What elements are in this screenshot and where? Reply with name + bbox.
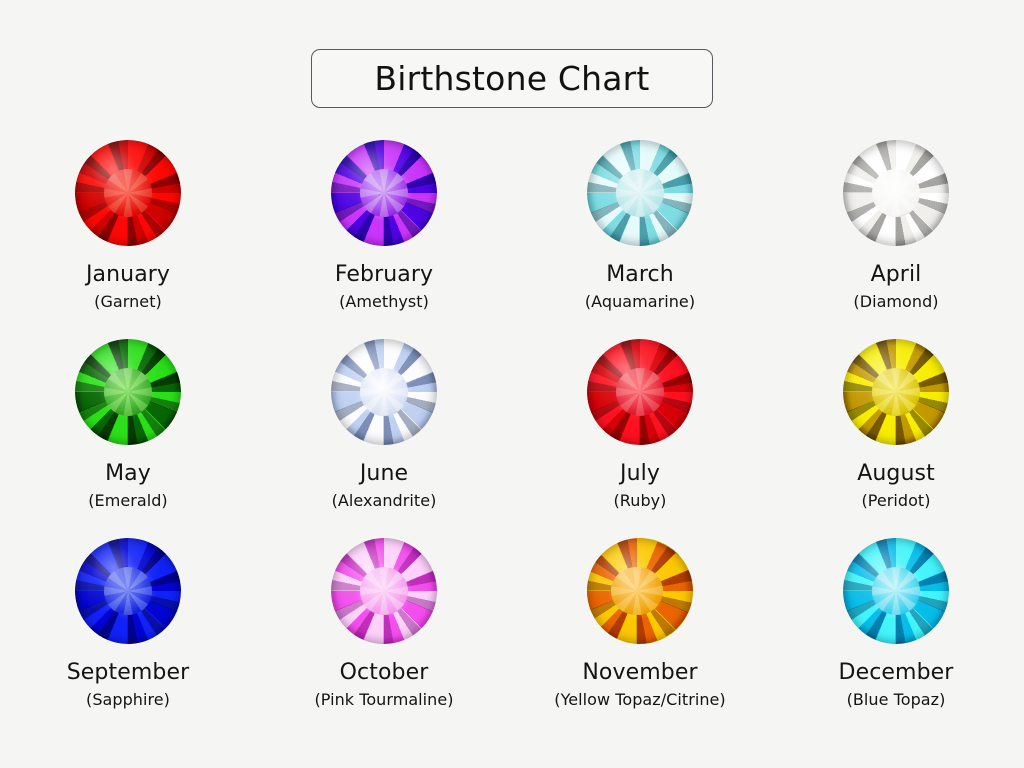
birthstone-cell[interactable]: April(Diamond) bbox=[768, 140, 1024, 339]
month-label: January bbox=[86, 263, 170, 286]
stone-label: (Aquamarine) bbox=[585, 294, 695, 311]
month-label: July bbox=[620, 462, 660, 485]
month-label: March bbox=[606, 263, 674, 286]
month-label: October bbox=[340, 661, 429, 684]
stone-label: (Yellow Topaz/Citrine) bbox=[554, 692, 725, 709]
gem-specular-highlight bbox=[75, 339, 181, 445]
gem-specular-highlight bbox=[587, 140, 693, 246]
month-label: May bbox=[105, 462, 151, 485]
gem-specular-highlight bbox=[75, 140, 181, 246]
gem-icon[interactable] bbox=[331, 140, 437, 246]
gem-icon[interactable] bbox=[843, 140, 949, 246]
stone-label: (Ruby) bbox=[614, 493, 667, 510]
birthstone-cell[interactable]: December(Blue Topaz) bbox=[768, 538, 1024, 737]
gem-icon[interactable] bbox=[331, 538, 437, 644]
birthstone-grid: January(Garnet)February(Amethyst)March(A… bbox=[0, 140, 1024, 737]
page-title: Birthstone Chart bbox=[374, 62, 649, 95]
gem-icon[interactable] bbox=[75, 339, 181, 445]
birthstone-cell[interactable]: July(Ruby) bbox=[512, 339, 768, 538]
birthstone-cell[interactable]: March(Aquamarine) bbox=[512, 140, 768, 339]
gem-specular-highlight bbox=[587, 339, 693, 445]
gem-specular-highlight bbox=[843, 140, 949, 246]
stone-label: (Amethyst) bbox=[339, 294, 429, 311]
chart-title-box: Birthstone Chart bbox=[311, 49, 713, 108]
stone-label: (Peridot) bbox=[861, 493, 930, 510]
birthstone-cell[interactable]: November(Yellow Topaz/Citrine) bbox=[512, 538, 768, 737]
gem-icon[interactable] bbox=[587, 339, 693, 445]
gem-specular-highlight bbox=[587, 538, 693, 644]
month-label: November bbox=[582, 661, 697, 684]
stone-label: (Garnet) bbox=[94, 294, 162, 311]
stone-label: (Diamond) bbox=[853, 294, 938, 311]
stone-label: (Pink Tourmaline) bbox=[314, 692, 453, 709]
gem-icon[interactable] bbox=[587, 538, 693, 644]
gem-specular-highlight bbox=[331, 538, 437, 644]
gem-icon[interactable] bbox=[587, 140, 693, 246]
gem-icon[interactable] bbox=[843, 538, 949, 644]
gem-icon[interactable] bbox=[843, 339, 949, 445]
month-label: August bbox=[857, 462, 935, 485]
month-label: April bbox=[871, 263, 922, 286]
birthstone-cell[interactable]: June(Alexandrite) bbox=[256, 339, 512, 538]
gem-specular-highlight bbox=[843, 538, 949, 644]
gem-icon[interactable] bbox=[75, 140, 181, 246]
stone-label: (Alexandrite) bbox=[332, 493, 437, 510]
birthstone-cell[interactable]: May(Emerald) bbox=[0, 339, 256, 538]
birthstone-cell[interactable]: October(Pink Tourmaline) bbox=[256, 538, 512, 737]
stone-label: (Sapphire) bbox=[86, 692, 170, 709]
birthstone-cell[interactable]: February(Amethyst) bbox=[256, 140, 512, 339]
gem-specular-highlight bbox=[331, 140, 437, 246]
birthstone-chart-page: Birthstone Chart January(Garnet)February… bbox=[0, 0, 1024, 768]
birthstone-cell[interactable]: January(Garnet) bbox=[0, 140, 256, 339]
month-label: February bbox=[335, 263, 433, 286]
gem-specular-highlight bbox=[331, 339, 437, 445]
gem-icon[interactable] bbox=[75, 538, 181, 644]
stone-label: (Blue Topaz) bbox=[847, 692, 946, 709]
month-label: December bbox=[839, 661, 954, 684]
month-label: September bbox=[67, 661, 190, 684]
birthstone-cell[interactable]: September(Sapphire) bbox=[0, 538, 256, 737]
gem-icon[interactable] bbox=[331, 339, 437, 445]
gem-specular-highlight bbox=[843, 339, 949, 445]
birthstone-cell[interactable]: August(Peridot) bbox=[768, 339, 1024, 538]
stone-label: (Emerald) bbox=[88, 493, 167, 510]
gem-specular-highlight bbox=[75, 538, 181, 644]
month-label: June bbox=[360, 462, 408, 485]
